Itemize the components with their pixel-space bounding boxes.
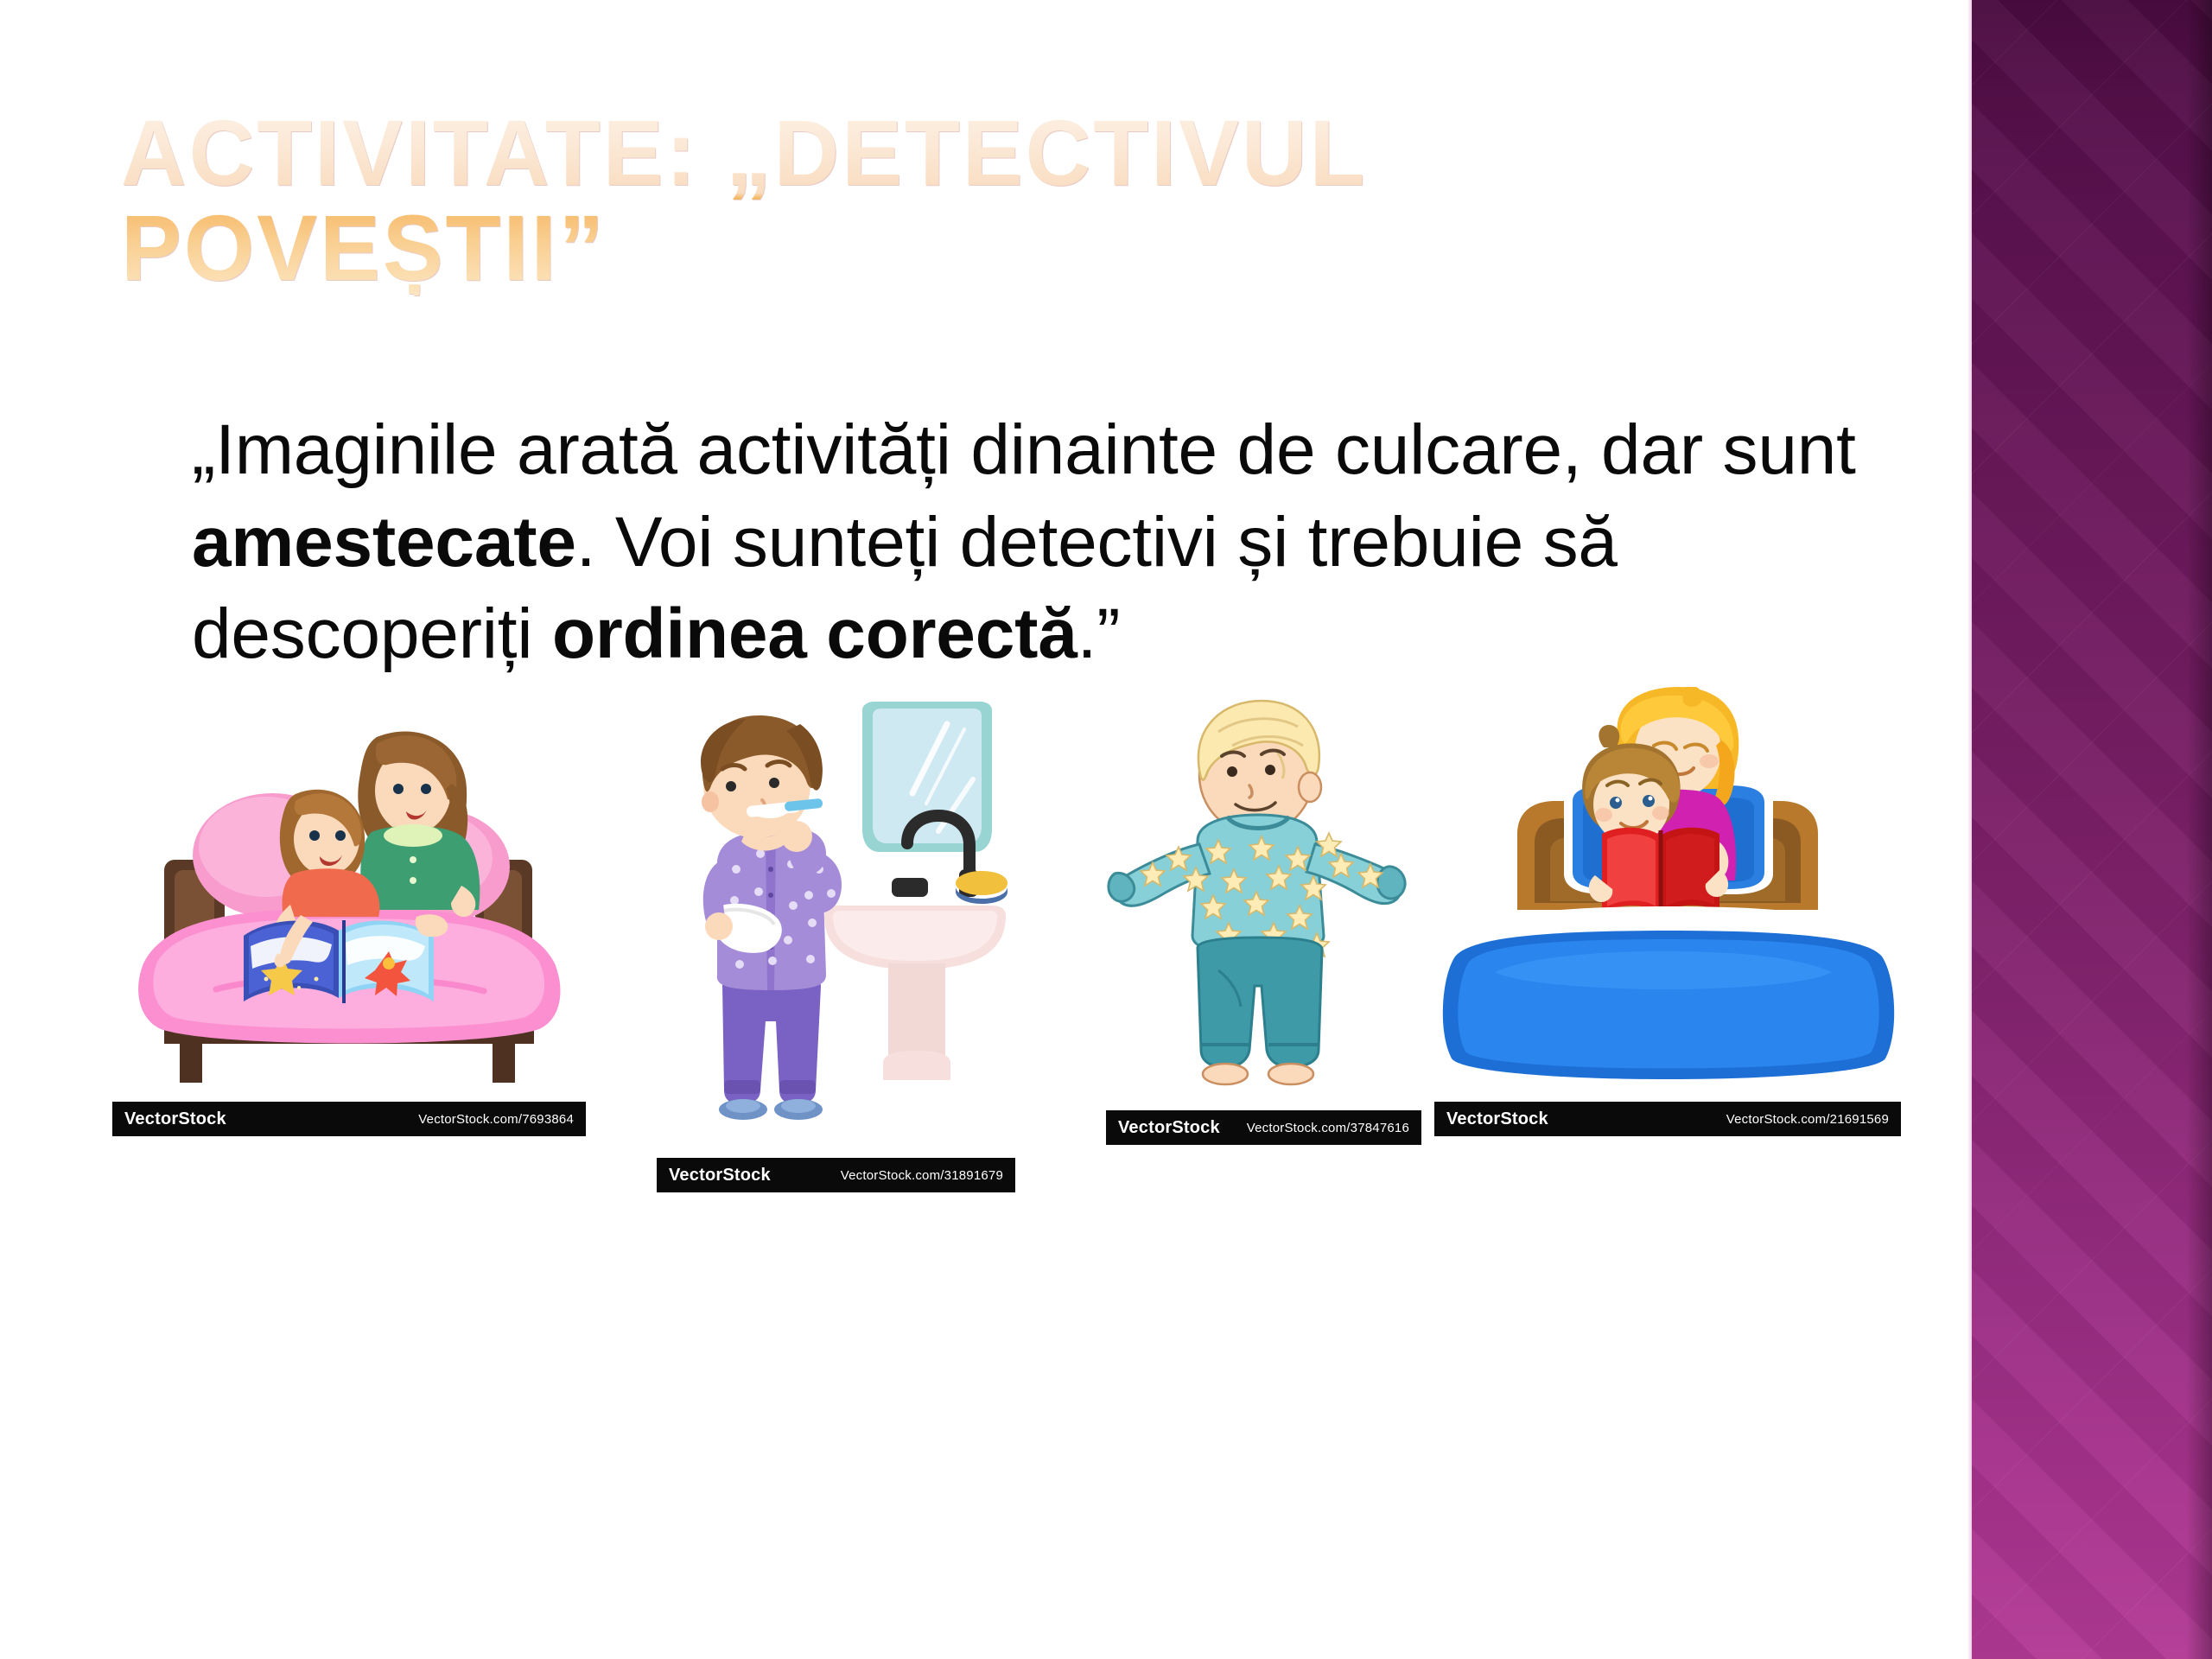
watermark-brand: VectorStock — [1446, 1109, 1548, 1129]
watermark-url: VectorStock.com/37847616 — [1247, 1121, 1409, 1135]
illustration-pyjamas-boy — [1106, 696, 1421, 1145]
slide-canvas: ACTIVITATE: „DETECTIVUL POVEȘTII” „Imagi… — [0, 0, 2212, 1659]
body-segment-4: .” — [1077, 594, 1121, 673]
watermark-bar: VectorStock VectorStock.com/31891679 — [657, 1158, 1015, 1192]
picture-reading-in-blue-bed[interactable]: VectorStock VectorStock.com/21691569 — [1434, 687, 1901, 1136]
watermark-bar: VectorStock VectorStock.com/37847616 — [1106, 1110, 1421, 1145]
watermark-bar: VectorStock VectorStock.com/7693864 — [112, 1102, 586, 1136]
body-segment-3-bold: ordinea corectă — [552, 594, 1077, 673]
watermark-url: VectorStock.com/31891679 — [841, 1168, 1003, 1183]
body-segment-0: „Imaginile arată activități dinainte de … — [192, 410, 1856, 489]
watermark-brand: VectorStock — [1118, 1118, 1220, 1138]
body-segment-1-bold: amestecate — [192, 503, 576, 582]
watermark-bar: VectorStock VectorStock.com/21691569 — [1434, 1102, 1901, 1136]
watermark-brand: VectorStock — [669, 1166, 771, 1185]
illustration-bedtime-story-pink — [112, 704, 586, 1136]
watermark-url: VectorStock.com/21691569 — [1726, 1112, 1889, 1127]
illustration-reading-blue-bed — [1434, 687, 1901, 1136]
picture-putting-on-pyjamas[interactable]: VectorStock VectorStock.com/37847616 — [1106, 696, 1421, 1145]
body-paragraph: „Imaginile arată activități dinainte de … — [192, 404, 1868, 681]
watermark-url: VectorStock.com/7693864 — [418, 1112, 574, 1127]
picture-bedtime-story-pink[interactable]: VectorStock VectorStock.com/7693864 — [112, 704, 586, 1136]
decorative-purple-sidebar — [1972, 0, 2212, 1659]
watermark-brand: VectorStock — [124, 1109, 226, 1129]
picture-brushing-teeth[interactable]: VectorStock VectorStock.com/31891679 — [657, 700, 1015, 1192]
illustration-brushing-teeth — [657, 700, 1015, 1192]
slide-title: ACTIVITATE: „DETECTIVUL POVEȘTII” — [121, 105, 1680, 296]
